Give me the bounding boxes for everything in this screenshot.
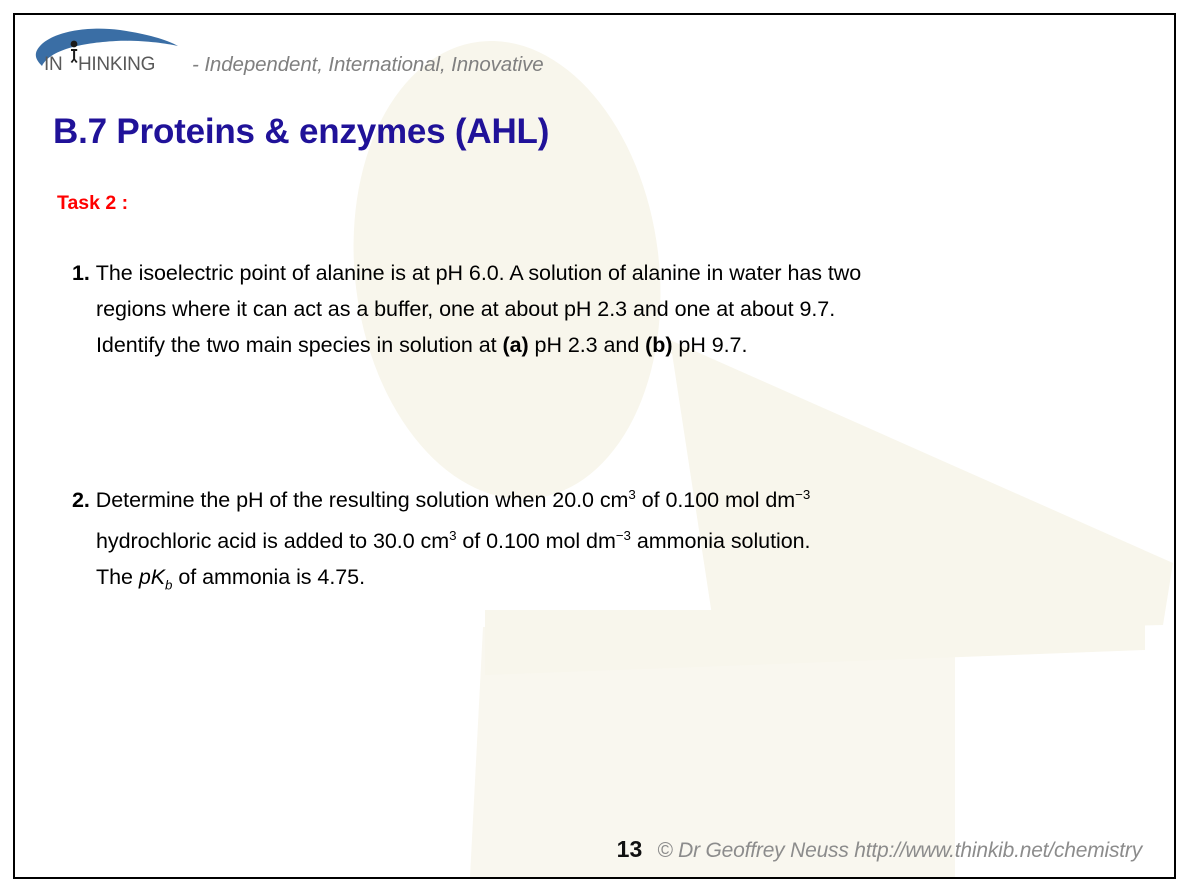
watermark-arrow	[485, 345, 1170, 877]
logo-person-head	[71, 41, 78, 48]
question-text-run: of 0.100 mol dm	[456, 529, 615, 553]
question-text-run: Determine the pH of the resulting soluti…	[96, 488, 629, 512]
question-line: regions where it can act as a buffer, on…	[72, 291, 1132, 327]
brand-tagline: - Independent, International, Innovative	[192, 53, 544, 77]
question-1: 1. The isoelectric point of alanine is a…	[72, 255, 1132, 363]
question-text-run: ammonia solution.	[631, 529, 811, 553]
question-text-run: The isoelectric point of alanine is at p…	[96, 261, 861, 285]
question-bold-run: (b)	[645, 333, 672, 357]
question-line: Identify the two main species in solutio…	[72, 327, 1132, 363]
question-text-run: Identify the two main species in solutio…	[96, 333, 502, 357]
question-text-run: regions where it can act as a buffer, on…	[96, 297, 835, 321]
question-text-run: of ammonia is 4.75.	[172, 565, 365, 589]
question-line: hydrochloric acid is added to 30.0 cm3 o…	[72, 518, 1132, 559]
superscript: −3	[616, 528, 631, 543]
logo-wordmark: IN	[44, 54, 62, 75]
copyright-notice: © Dr Geoffrey Neuss http://www.thinkib.n…	[657, 839, 1142, 863]
question-number: 1.	[72, 261, 96, 285]
question-line: The pKb of ammonia is 4.75.	[72, 559, 1132, 603]
slide-footer: 13 © Dr Geoffrey Neuss http://www.thinki…	[0, 836, 1189, 863]
slide-canvas: IN HINKING - Independent, International,…	[0, 0, 1189, 895]
question-text-run: pH 9.7.	[672, 333, 747, 357]
question-number: 2.	[72, 488, 96, 512]
brand-header: IN HINKING - Independent, International,…	[28, 28, 544, 82]
watermark-arrow-stem	[485, 610, 1145, 675]
question-bold-run: (a)	[502, 333, 528, 357]
question-2: 2. Determine the pH of the resulting sol…	[72, 477, 1132, 604]
superscript: 3	[628, 487, 635, 502]
question-line: 1. The isoelectric point of alanine is a…	[72, 255, 1132, 291]
question-line: 2. Determine the pH of the resulting sol…	[72, 477, 1132, 518]
task-label: Task 2 :	[57, 192, 128, 215]
superscript: −3	[795, 487, 810, 502]
question-text-run: The	[96, 565, 139, 589]
page-title: B.7 Proteins & enzymes (AHL)	[53, 112, 549, 152]
question-text-run: pH 2.3 and	[529, 333, 646, 357]
question-text-run: hydrochloric acid is added to 30.0 cm	[96, 529, 449, 553]
inthinking-logo: IN HINKING	[28, 28, 180, 82]
logo-person-body	[71, 49, 78, 63]
logo-wordmark-2: HINKING	[78, 54, 155, 75]
page-number: 13	[617, 836, 643, 863]
question-text-run: of 0.100 mol dm	[636, 488, 795, 512]
question-italic-run: pK	[139, 565, 165, 589]
logo-graphic: IN HINKING	[28, 28, 180, 82]
